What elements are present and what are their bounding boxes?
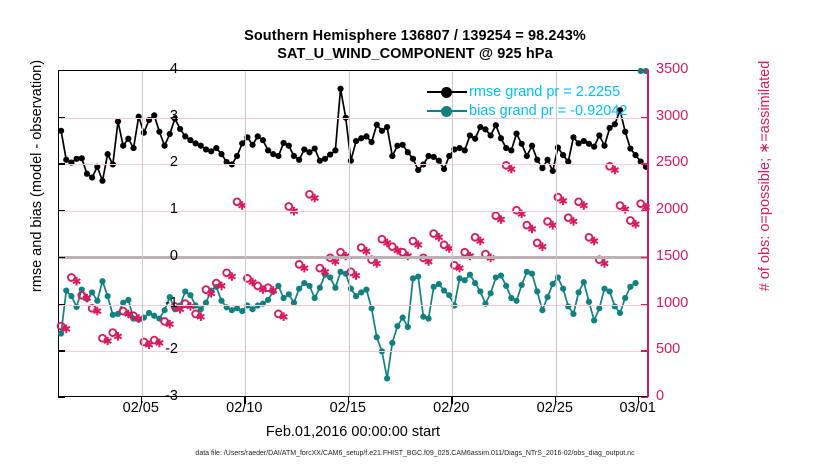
data-point <box>58 128 64 134</box>
data-point <box>337 86 343 92</box>
data-point <box>125 136 131 142</box>
y-tick-mark-right <box>641 163 648 164</box>
data-point <box>632 280 638 286</box>
y-tick-label-right: 2500 <box>656 154 704 170</box>
vertical-gridline <box>349 71 350 396</box>
data-point <box>576 289 582 295</box>
data-point <box>534 288 540 294</box>
data-point <box>218 151 224 157</box>
data-file-footer: data file: /Users/raeder/DAI/ATM_forcXX/… <box>0 450 830 457</box>
legend-marker-rmse <box>427 85 467 99</box>
data-point <box>79 155 85 161</box>
chart-title-line2: SAT_U_WIND_COMPONENT @ 925 hPa <box>0 46 830 62</box>
data-point <box>379 128 385 134</box>
data-point <box>601 143 607 149</box>
legend-item-bias: bias grand pr = -0.92042 <box>427 101 627 120</box>
y-tick-mark-left <box>58 210 65 211</box>
data-point <box>539 165 545 171</box>
y-axis-label-left: rmse and bias (model - observation) <box>29 11 45 341</box>
obs-possible-marker <box>120 308 127 315</box>
y-tick-mark-left <box>58 350 65 351</box>
legend-label-bias: bias grand pr = -0.92042 <box>469 103 627 119</box>
data-point <box>405 149 411 155</box>
data-point <box>182 288 188 294</box>
data-point <box>622 295 628 301</box>
data-point <box>612 121 618 127</box>
right-axis-line <box>647 70 649 397</box>
data-point <box>99 278 105 284</box>
data-point <box>369 139 375 145</box>
y-tick-mark-right <box>641 350 648 351</box>
data-point <box>400 315 406 321</box>
data-point <box>161 143 167 149</box>
data-point <box>291 153 297 159</box>
data-point <box>508 147 514 153</box>
data-point <box>89 174 95 180</box>
data-point <box>513 298 519 304</box>
y-tick-mark-left <box>58 163 65 164</box>
data-point <box>198 143 204 149</box>
data-point <box>286 143 292 149</box>
data-point <box>187 292 193 298</box>
data-point <box>607 125 613 131</box>
data-point <box>591 317 597 323</box>
x-tick-label: 02/25 <box>520 400 590 416</box>
data-point <box>234 153 240 159</box>
data-point <box>425 153 431 159</box>
data-point <box>167 131 173 137</box>
x-axis-label: Feb.01,2016 00:00:00 start <box>58 424 648 440</box>
y-tick-mark-right <box>641 304 648 305</box>
chart-figure: Southern Hemisphere 136807 / 139254 = 98… <box>0 0 830 470</box>
x-tick-label: 02/10 <box>209 400 279 416</box>
y-tick-label-right: 1500 <box>656 248 704 264</box>
data-point <box>462 277 468 283</box>
legend-label-rmse: rmse grand pr = 2.2255 <box>469 84 620 100</box>
y-tick-mark-right <box>641 70 648 71</box>
data-point <box>570 134 576 140</box>
data-point <box>431 154 437 160</box>
data-point <box>534 157 540 163</box>
obs-possible-marker <box>99 335 106 342</box>
data-point <box>182 133 188 139</box>
y-tick-mark-left <box>58 397 65 398</box>
data-point <box>99 178 105 184</box>
data-point <box>503 283 509 289</box>
data-point <box>306 149 312 155</box>
y-axis-label-right: # of obs: o=possible; ∗=assimilated <box>757 11 773 341</box>
data-point <box>524 153 530 159</box>
data-point <box>322 156 328 162</box>
legend-item-rmse: rmse grand pr = 2.2255 <box>427 82 627 101</box>
data-point <box>477 288 483 294</box>
data-point <box>622 129 628 135</box>
y-tick-label-left: 4 <box>138 61 178 77</box>
data-point <box>436 281 442 287</box>
obs-possible-marker <box>192 311 199 318</box>
data-point <box>441 287 447 293</box>
data-point <box>472 136 478 142</box>
data-point <box>306 283 312 289</box>
data-point <box>332 285 338 291</box>
data-point <box>317 285 323 291</box>
data-point <box>260 137 266 143</box>
y-tick-label-left: 1 <box>138 201 178 217</box>
data-point <box>482 126 488 132</box>
y-tick-label-left: -2 <box>138 341 178 357</box>
data-point <box>249 142 255 148</box>
y-tick-label-right: 2000 <box>656 201 704 217</box>
data-point <box>265 147 271 153</box>
data-point <box>389 340 395 346</box>
y-tick-label-right: 500 <box>656 341 704 357</box>
data-point <box>312 145 318 151</box>
data-point <box>68 293 74 299</box>
y-tick-mark-left <box>58 257 65 258</box>
data-point <box>275 153 281 159</box>
data-point <box>539 307 545 313</box>
data-point <box>415 167 421 173</box>
data-point <box>384 124 390 130</box>
data-point <box>125 297 131 303</box>
obs-possible-marker <box>275 311 282 318</box>
data-point <box>213 145 219 151</box>
chart-legend: rmse grand pr = 2.2255 bias grand pr = -… <box>424 80 630 122</box>
data-point <box>467 272 473 278</box>
y-tick-label-right: 3000 <box>656 108 704 124</box>
data-point <box>312 295 318 301</box>
data-point <box>363 133 369 139</box>
data-point <box>394 143 400 149</box>
data-point <box>105 293 111 299</box>
data-point <box>596 305 602 311</box>
data-point <box>467 132 473 138</box>
data-point <box>529 143 535 149</box>
x-tick-label: 02/05 <box>106 400 176 416</box>
data-point <box>265 297 271 303</box>
data-point <box>493 122 499 128</box>
data-point <box>208 148 214 154</box>
data-point <box>384 375 390 381</box>
data-point <box>84 171 90 177</box>
data-point <box>498 273 504 279</box>
y-tick-mark-right <box>641 397 648 398</box>
obs-possible-marker <box>89 305 96 312</box>
vertical-gridline <box>245 71 246 396</box>
data-point <box>130 145 136 151</box>
data-point <box>544 294 550 300</box>
x-tick-label: 02/15 <box>313 400 383 416</box>
data-point <box>519 141 525 147</box>
data-point <box>560 152 566 158</box>
data-point <box>529 271 535 277</box>
data-point <box>89 289 95 295</box>
data-point <box>488 132 494 138</box>
y-tick-mark-left <box>58 304 65 305</box>
data-point <box>570 311 576 317</box>
data-point <box>405 324 411 330</box>
y-tick-mark-left <box>58 70 65 71</box>
data-point <box>105 151 111 157</box>
data-point <box>332 147 338 153</box>
data-point <box>94 298 100 304</box>
data-point <box>115 118 121 124</box>
data-point <box>327 152 333 158</box>
data-point <box>472 280 478 286</box>
data-point <box>581 279 587 285</box>
data-point <box>374 122 380 128</box>
y-tick-mark-right <box>641 257 648 258</box>
chart-title-line1: Southern Hemisphere 136807 / 139254 = 98… <box>0 28 830 44</box>
data-point <box>63 287 69 293</box>
data-point <box>353 293 359 299</box>
y-tick-mark-left <box>58 117 65 118</box>
data-point <box>415 273 421 279</box>
data-point <box>394 323 400 329</box>
data-point <box>327 274 333 280</box>
data-point <box>389 153 395 159</box>
data-point <box>591 144 597 150</box>
y-tick-label-left: 0 <box>138 248 178 264</box>
data-point <box>498 135 504 141</box>
data-point <box>187 137 193 143</box>
data-point <box>296 286 302 292</box>
data-point <box>281 295 287 301</box>
x-tick-label: 03/01 <box>603 400 673 416</box>
y-tick-label-right: 3500 <box>656 61 704 77</box>
data-point <box>177 126 183 132</box>
y-tick-label-left: 3 <box>138 108 178 124</box>
data-point <box>436 158 442 164</box>
data-point <box>218 298 224 304</box>
data-point <box>363 287 369 293</box>
y-tick-label-left: 2 <box>138 154 178 170</box>
data-point <box>120 143 126 149</box>
data-point <box>627 145 633 151</box>
data-point <box>374 334 380 340</box>
obs-possible-marker <box>161 318 168 325</box>
legend-marker-bias <box>427 104 467 118</box>
y-tick-label-right: 1000 <box>656 295 704 311</box>
data-point <box>596 132 602 138</box>
data-point <box>410 156 416 162</box>
x-tick-label: 02/20 <box>416 400 486 416</box>
data-point <box>513 131 519 137</box>
data-point <box>156 129 162 135</box>
data-point <box>296 157 302 163</box>
y-tick-label-left: -1 <box>138 295 178 311</box>
data-point <box>369 305 375 311</box>
data-point <box>400 142 406 148</box>
data-point <box>544 157 550 163</box>
data-point <box>286 291 292 297</box>
data-point <box>607 288 613 294</box>
data-point <box>110 312 116 318</box>
data-point <box>462 147 468 153</box>
data-point <box>627 284 633 290</box>
data-point <box>441 166 447 172</box>
data-point <box>617 310 623 316</box>
y-tick-mark-right <box>641 210 648 211</box>
y-tick-mark-right <box>641 117 648 118</box>
data-point <box>425 315 431 321</box>
data-point <box>519 282 525 288</box>
data-point <box>560 286 566 292</box>
data-point <box>488 290 494 296</box>
data-point <box>255 133 261 139</box>
data-point <box>249 306 255 312</box>
data-point <box>632 152 638 158</box>
